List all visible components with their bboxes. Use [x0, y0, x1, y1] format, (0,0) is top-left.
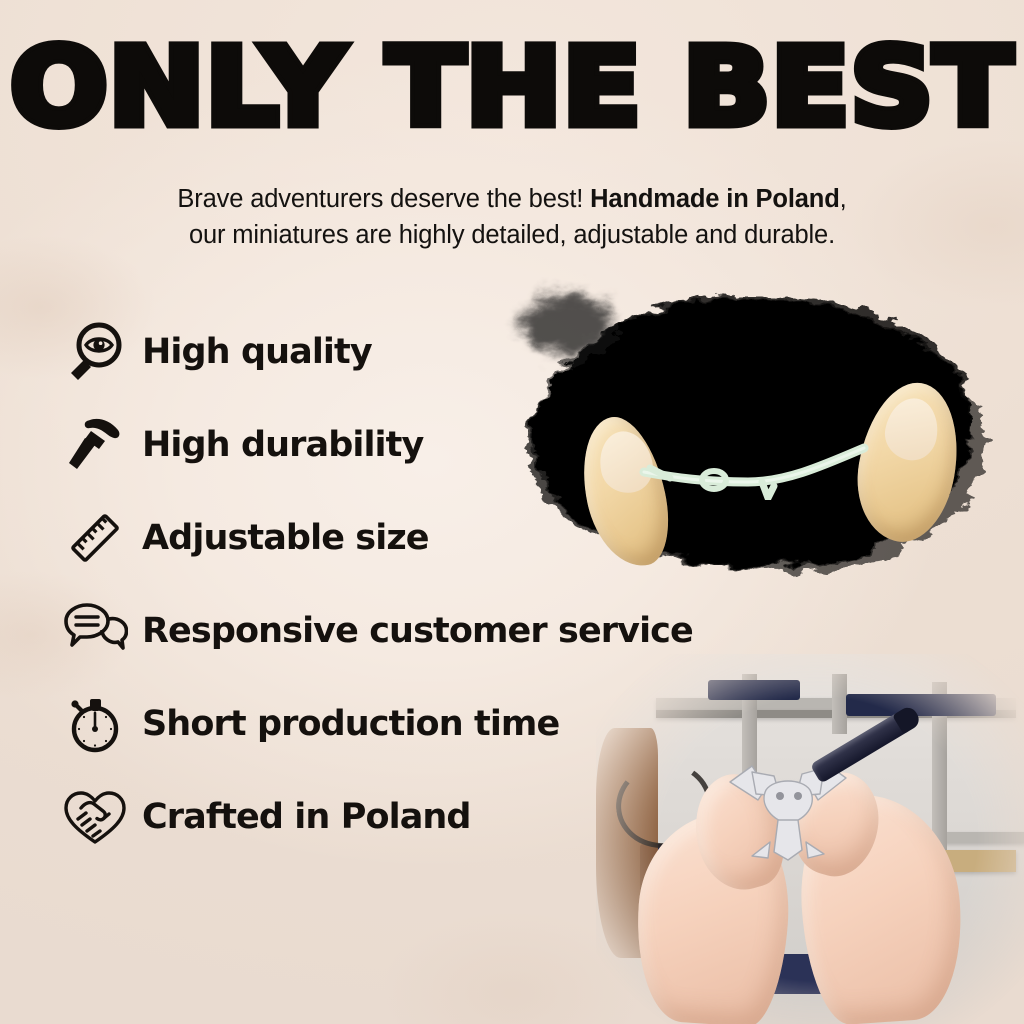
subtitle-lead: Brave adventurers deserve the best!: [177, 185, 590, 213]
speech-bubbles-icon: [58, 594, 132, 668]
feature-item-high-quality: High quality: [58, 305, 778, 398]
tray-upper-right: [846, 694, 996, 716]
subtitle-line-2: our miniatures are highly detailed, adju…: [62, 217, 962, 253]
shelf-post-mid: [832, 674, 847, 734]
subtitle-line-1: Brave adventurers deserve the best! Hand…: [62, 181, 962, 217]
feature-item-customer-service: Responsive customer service: [58, 584, 778, 677]
fingernail-right: [881, 394, 943, 464]
hammer-icon: [58, 408, 132, 482]
magnifier-eye-icon: [58, 315, 132, 389]
heart-handshake-icon: [58, 780, 132, 854]
feature-label: Short production time: [142, 704, 559, 744]
feature-label: Responsive customer service: [142, 611, 693, 651]
feature-label: Adjustable size: [142, 518, 429, 558]
feature-label: High quality: [142, 332, 372, 372]
stopwatch-icon: [58, 687, 132, 761]
ruler-icon: [58, 501, 132, 575]
feature-item-crafted-in-poland: Crafted in Poland: [58, 770, 778, 863]
feature-item-high-durability: High durability: [58, 398, 778, 491]
subtitle-tail: ,: [840, 185, 847, 213]
feature-list: High quality High durability: [58, 305, 778, 863]
feature-label: High durability: [142, 425, 423, 465]
subtitle-bold-handmade: Handmade in Poland: [590, 185, 840, 213]
feature-item-adjustable-size: Adjustable size: [58, 491, 778, 584]
poster-canvas: ONLY THE BEST Brave adventurers deserve …: [0, 0, 1024, 1024]
feature-item-production-time: Short production time: [58, 677, 778, 770]
feature-label: Crafted in Poland: [142, 797, 471, 837]
headline-block: ONLY THE BEST: [0, 34, 1024, 143]
subtitle: Brave adventurers deserve the best! Hand…: [62, 181, 962, 254]
page-title: ONLY THE BEST: [11, 34, 1014, 143]
